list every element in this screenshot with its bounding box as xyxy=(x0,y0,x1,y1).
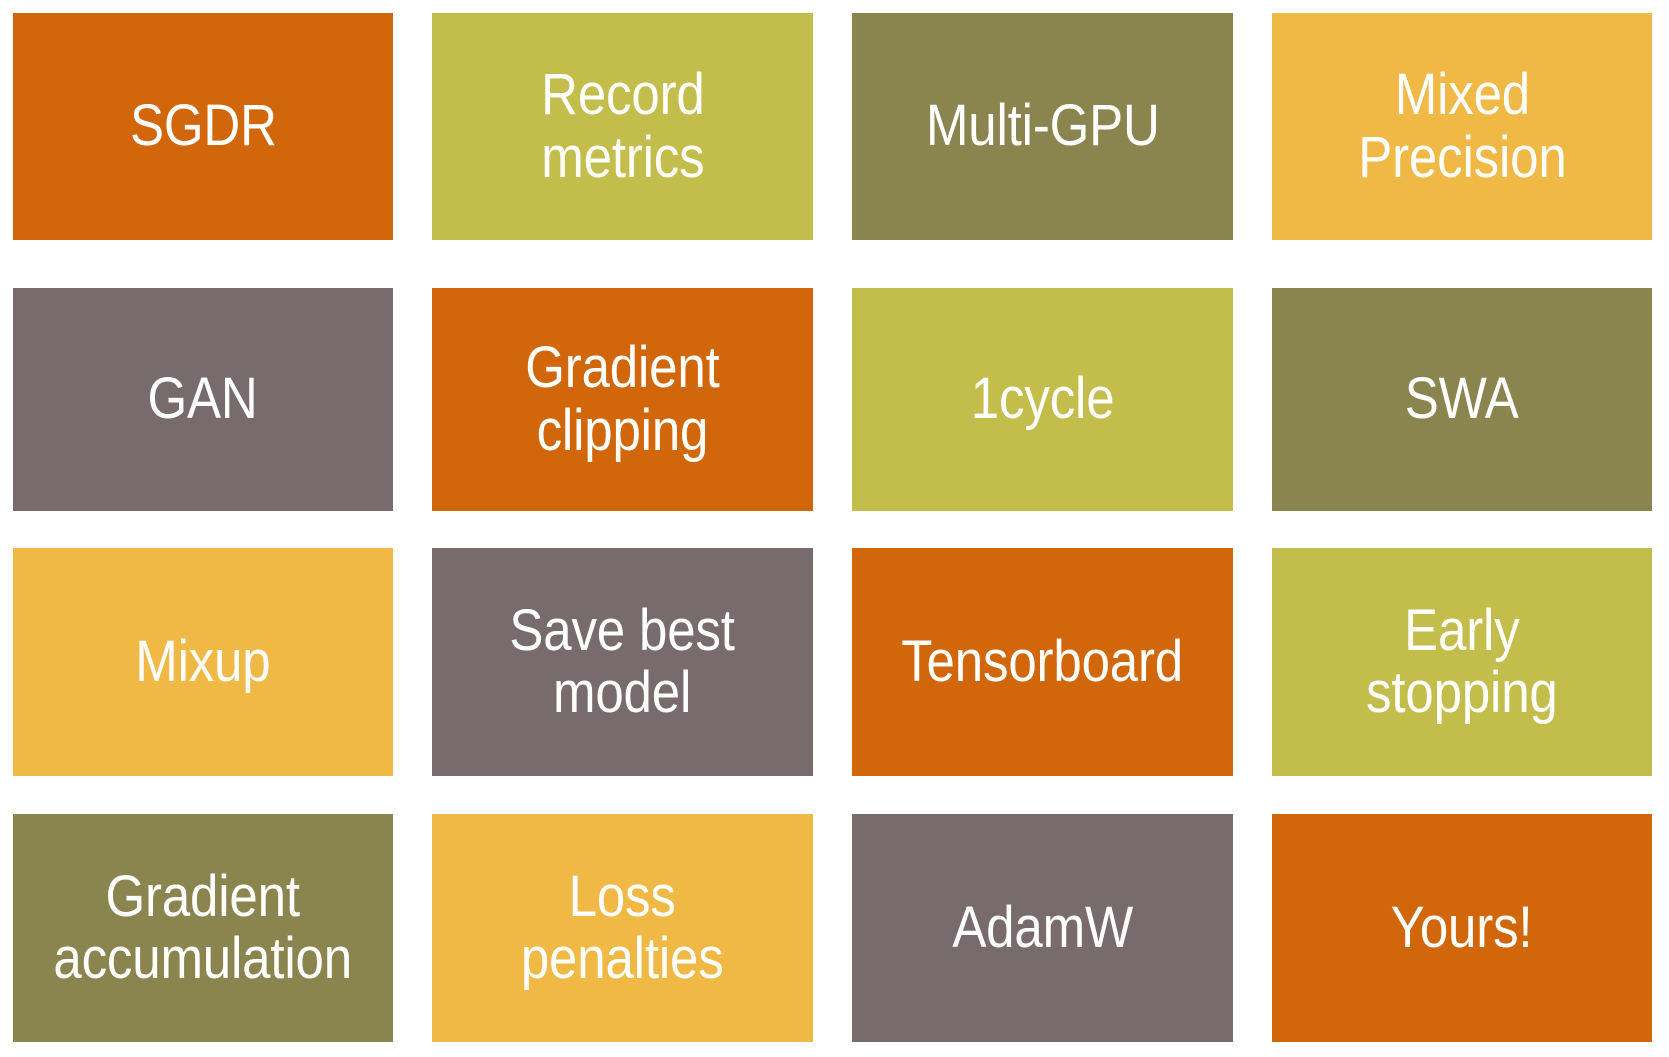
tile-label: Gradient accumulation xyxy=(54,866,353,990)
tile-adamw[interactable]: AdamW xyxy=(852,814,1233,1042)
tile-swa[interactable]: SWA xyxy=(1272,288,1652,511)
tile-label: Early stopping xyxy=(1366,600,1558,724)
tile-gradient-clipping[interactable]: Gradient clipping xyxy=(432,288,813,511)
tile-label: GAN xyxy=(148,368,258,430)
tile-label: SWA xyxy=(1405,368,1519,430)
tile-multi-gpu[interactable]: Multi-GPU xyxy=(852,13,1233,240)
tile-label: SGDR xyxy=(130,95,277,157)
tile-gradient-accumulation[interactable]: Gradient accumulation xyxy=(13,814,393,1042)
tile-early-stopping[interactable]: Early stopping xyxy=(1272,548,1652,776)
tile-label: Gradient clipping xyxy=(525,337,719,461)
tile-label: Mixup xyxy=(135,631,270,693)
tile-1cycle[interactable]: 1cycle xyxy=(852,288,1233,511)
tile-label: Mixed Precision xyxy=(1358,64,1566,188)
tile-sgdr[interactable]: SGDR xyxy=(13,13,393,240)
tile-label: AdamW xyxy=(952,897,1133,959)
tile-mixup[interactable]: Mixup xyxy=(13,548,393,776)
tile-save-best-model[interactable]: Save best model xyxy=(432,548,813,776)
tile-yours[interactable]: Yours! xyxy=(1272,814,1652,1042)
tile-loss-penalties[interactable]: Loss penalties xyxy=(432,814,813,1042)
tile-label: Tensorboard xyxy=(902,631,1184,693)
tile-grid: SGDRRecord metricsMulti-GPUMixed Precisi… xyxy=(0,0,1669,1057)
tile-label: Loss penalties xyxy=(521,866,724,990)
tile-record-metrics[interactable]: Record metrics xyxy=(432,13,813,240)
tile-label: Multi-GPU xyxy=(926,95,1160,157)
tile-tensorboard[interactable]: Tensorboard xyxy=(852,548,1233,776)
tile-mixed-precision[interactable]: Mixed Precision xyxy=(1272,13,1652,240)
tile-label: Record metrics xyxy=(541,64,704,188)
tile-label: 1cycle xyxy=(971,368,1115,430)
tile-label: Save best model xyxy=(510,600,735,724)
tile-gan[interactable]: GAN xyxy=(13,288,393,511)
tile-label: Yours! xyxy=(1391,897,1533,959)
